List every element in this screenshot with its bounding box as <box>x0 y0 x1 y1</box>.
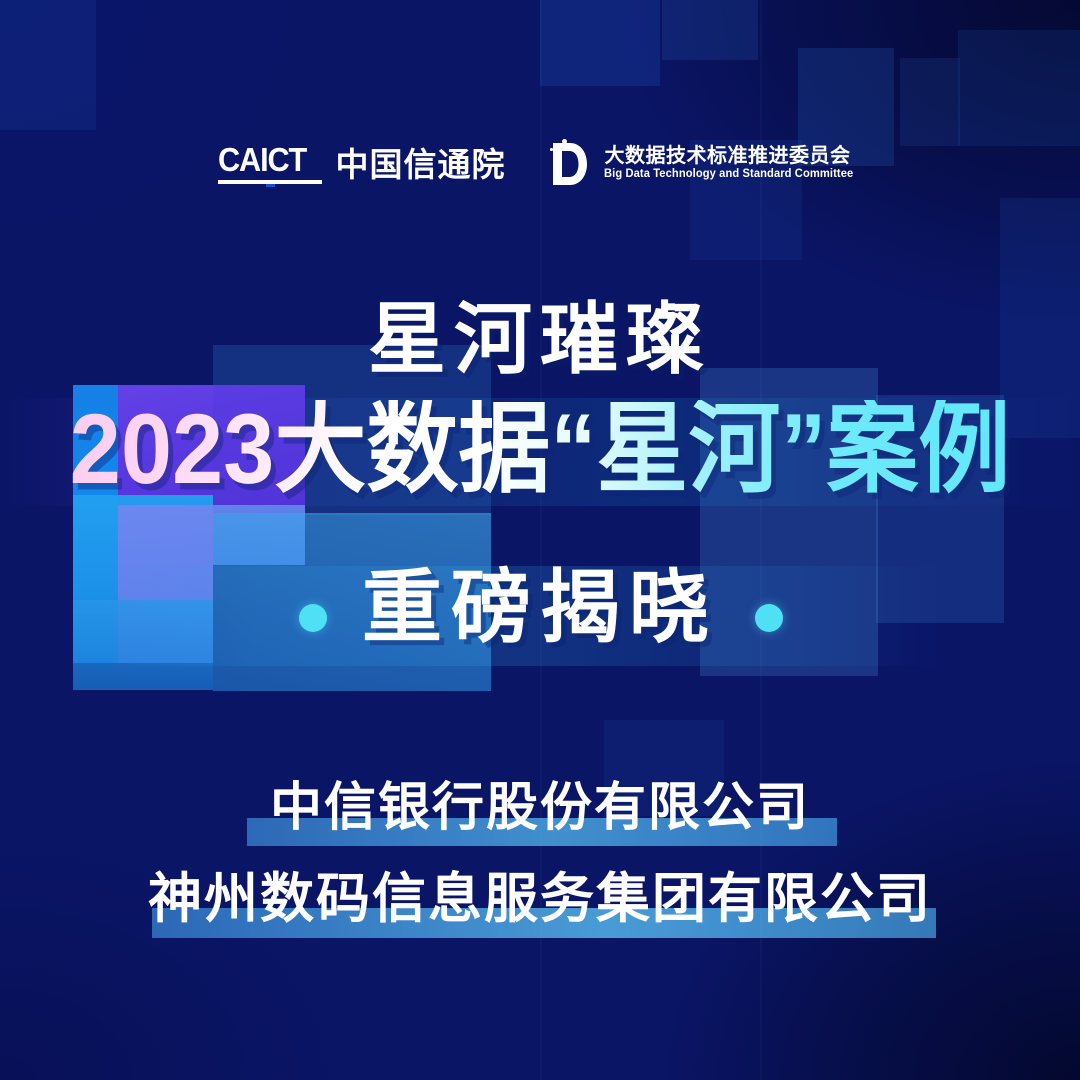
title-line-2: 2023大数据“星河”案例 <box>0 400 1080 499</box>
d-monogram-icon <box>549 139 593 187</box>
poster-canvas: CAICT 中国信通院 大数据技术标准推进委员会 Big <box>0 0 1080 1080</box>
bigdata-logo-text: 大数据技术标准推进委员会 Big Data Technology and Sta… <box>604 146 861 181</box>
caict-wordmark: CAICT <box>218 143 306 176</box>
bigdata-english-name: Big Data Technology and Standard Committ… <box>604 169 853 181</box>
caict-chinese-name: 中国信通院 <box>335 148 505 184</box>
title-line-1: 星河璀璨 <box>0 300 1080 378</box>
bg-block-top-5 <box>958 30 1080 146</box>
header-logos: CAICT 中国信通院 大数据技术标准推进委员会 Big <box>0 132 1080 194</box>
bullet-dot-right-icon <box>755 604 783 632</box>
caict-underline-mark-icon: CAICT <box>218 143 322 184</box>
caict-rule <box>218 180 322 184</box>
bg-block-top-1 <box>540 0 660 86</box>
bigdata-committee-logo: 大数据技术标准推进委员会 Big Data Technology and Sta… <box>549 139 861 187</box>
bigdata-chinese-name: 大数据技术标准推进委员会 <box>604 146 861 166</box>
caict-logo: CAICT 中国信通院 <box>218 143 505 184</box>
d-monogram-sparkle-dots <box>549 139 571 155</box>
company-name-1: 中信银行股份有限公司 <box>0 782 1080 834</box>
bg-block-top-2 <box>662 0 758 60</box>
bg-block-top-left <box>0 0 96 130</box>
company-name-2: 神州数码信息服务集团有限公司 <box>0 872 1080 926</box>
title-line-3: 重磅揭晓 <box>0 568 1080 648</box>
bg-block-left-periwinkle-2 <box>213 505 305 565</box>
